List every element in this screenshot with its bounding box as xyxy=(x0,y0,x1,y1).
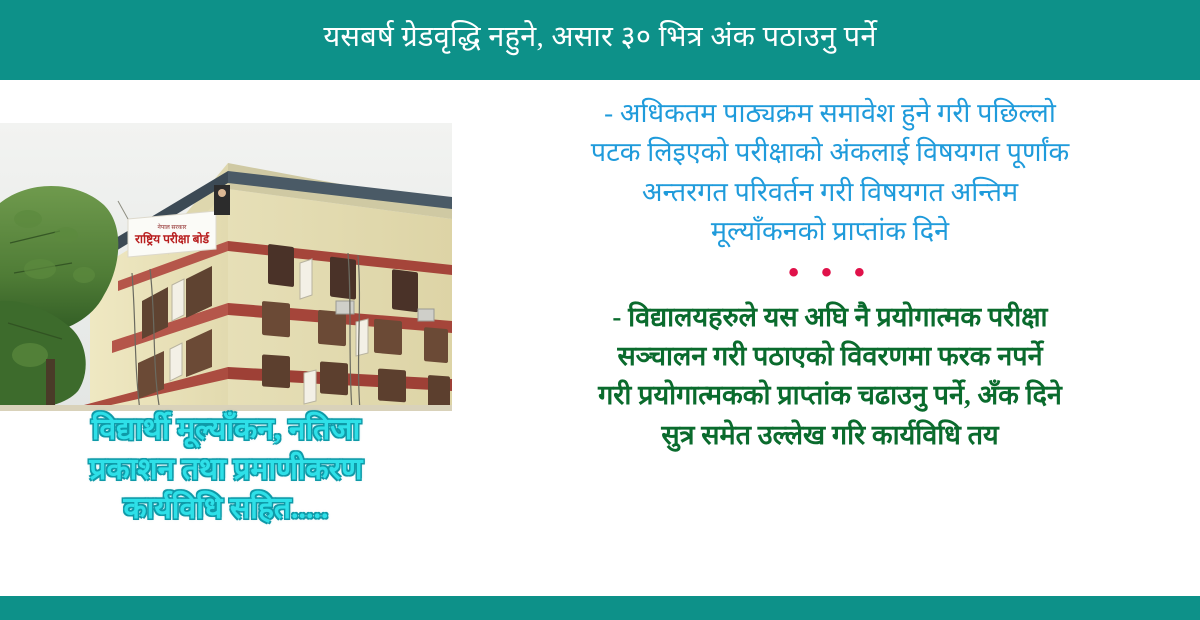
infographic-page: यसबर्ष ग्रेडवृद्धि नहुने, असार ३० भित्र … xyxy=(0,0,1200,620)
paragraph-one-line-1: - अधिकतम पाठ्यक्रम समावेश हुने गरी पछिल्… xyxy=(470,94,1190,133)
paragraph-one-line-3: अन्तरगत परिवर्तन गरी विषयगत अन्तिम xyxy=(470,173,1190,212)
photo-caption: विद्यार्थी मूल्याँकन, नतिजा प्रकाशन तथा … xyxy=(0,410,452,529)
footer-band xyxy=(0,596,1200,620)
caption-line-2: प्रकाशन तथा प्रमाणीकरण xyxy=(0,450,452,490)
paragraph-two-line-1: - विद्यालयहरुले यस अघि नै प्रयोगात्मक पर… xyxy=(470,298,1190,337)
paragraph-two-line-2: सञ्चालन गरी पठाएको विवरणमा फरक नपर्ने xyxy=(470,337,1190,376)
building-banner: नेपाल सरकार राष्ट्रिय परीक्षा बोर्ड xyxy=(128,211,216,257)
right-column: - अधिकतम पाठ्यक्रम समावेश हुने गरी पछिल्… xyxy=(460,80,1200,596)
caption-line-3: कार्यविधि सहित..... xyxy=(0,489,452,529)
svg-text:राष्ट्रिय परीक्षा बोर्ड: राष्ट्रिय परीक्षा बोर्ड xyxy=(134,232,210,246)
left-column: नेपाल सरकार राष्ट्रिय परीक्षा बोर्ड xyxy=(0,80,460,596)
paragraph-separator-dots: • • • xyxy=(460,258,1200,288)
paragraph-one: - अधिकतम पाठ्यक्रम समावेश हुने गरी पछिल्… xyxy=(470,94,1190,252)
caption-line-1: विद्यार्थी मूल्याँकन, नतिजा xyxy=(0,410,452,450)
building-photo: नेपाल सरकार राष्ट्रिय परीक्षा बोर्ड xyxy=(0,123,452,411)
paragraph-two: - विद्यालयहरुले यस अघि नै प्रयोगात्मक पर… xyxy=(470,298,1190,456)
paragraph-two-line-4: सुत्र समेत उल्लेख गरि कार्यविधि तय xyxy=(470,416,1190,455)
paragraph-one-line-2: पटक लिइएको परीक्षाको अंकलाई विषयगत पूर्ण… xyxy=(470,133,1190,172)
svg-text:नेपाल सरकार: नेपाल सरकार xyxy=(158,223,188,231)
header-band: यसबर्ष ग्रेडवृद्धि नहुने, असार ३० भित्र … xyxy=(0,0,1200,80)
building-photo-graphic: नेपाल सरकार राष्ट्रिय परीक्षा बोर्ड xyxy=(0,123,452,411)
paragraph-one-line-4: मूल्याँकनको प्राप्तांक दिने xyxy=(470,212,1190,251)
paragraph-two-line-3: गरी प्रयोगात्मकको प्राप्तांक चढाउनु पर्न… xyxy=(470,376,1190,415)
page-title: यसबर्ष ग्रेडवृद्धि नहुने, असार ३० भित्र … xyxy=(323,22,876,58)
